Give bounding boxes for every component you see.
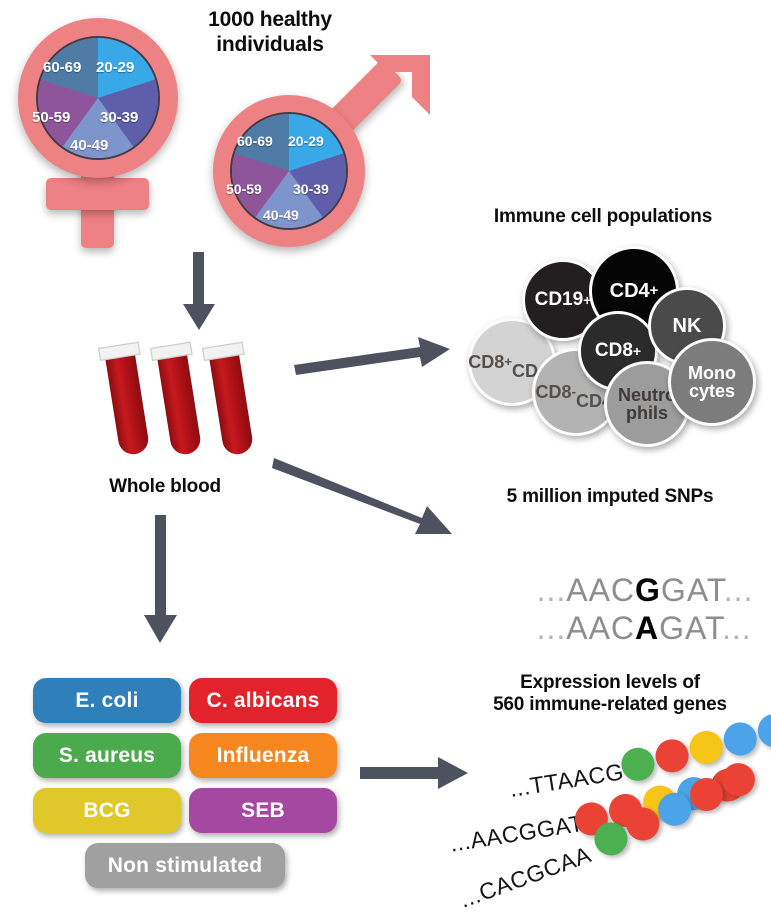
- immune-populations-title: Immune cell populations: [438, 206, 768, 228]
- arrow-stimuli-to-expression: [360, 755, 470, 791]
- stimulus-non-stimulated[interactable]: Non stimulated: [85, 843, 285, 888]
- snp-row2-prefix: ...: [537, 610, 567, 646]
- stimulus-e-coli[interactable]: E. coli: [33, 678, 181, 723]
- figure-canvas: 1000 healthy individuals 20-29 30-39 40-…: [0, 0, 771, 922]
- arrow-cohort-to-blood: [178, 252, 220, 332]
- male-symbol: 20-29 30-39 40-49 50-59 60-69: [205, 55, 420, 255]
- expression-strands: ...TTAACGG ...AACGGAT ...CACGCAA: [455, 740, 771, 920]
- expression-bead: [653, 737, 691, 775]
- expression-title: Expression levels of 560 immune-related …: [450, 672, 770, 717]
- stimuli-panel: E. coli C. albicans S. aureus Influenza …: [33, 678, 333, 893]
- female-symbol-crossbar: [46, 178, 149, 210]
- snp-row2-left: AAC: [566, 610, 635, 646]
- stimulus-seb[interactable]: SEB: [189, 788, 337, 833]
- pie-label-50-59: 50-59: [226, 181, 262, 197]
- snp-row2-right: GAT: [659, 610, 722, 646]
- pie-label-50-59: 50-59: [32, 109, 70, 126]
- snp-row2-suffix: ...: [722, 610, 752, 646]
- stimulus-c-albicans[interactable]: C. albicans: [189, 678, 337, 723]
- expression-bead: [721, 720, 759, 758]
- stimulus-s-aureus[interactable]: S. aureus: [33, 733, 181, 778]
- stimulus-influenza[interactable]: Influenza: [189, 733, 337, 778]
- pie-label-40-49: 40-49: [263, 207, 299, 223]
- whole-blood-tubes: [95, 340, 275, 465]
- immune-cell-cluster: CD8+CD4+ CD19+ CD4+ CD8-CD4- CD8+ NK Neu…: [460, 243, 770, 423]
- stimulus-bcg[interactable]: BCG: [33, 788, 181, 833]
- immune-cell-monocytes: Monocytes: [668, 338, 756, 426]
- female-symbol: 20-29 30-39 40-49 50-59 60-69: [8, 18, 188, 248]
- pie-label-30-39: 30-39: [100, 109, 138, 126]
- pie-label-20-29: 20-29: [288, 133, 324, 149]
- expression-bead: [755, 712, 771, 750]
- snp-row2-variant: A: [635, 610, 659, 646]
- snps-title: 5 million imputed SNPs: [450, 486, 770, 508]
- arrow-blood-to-stimuli: [140, 515, 182, 645]
- whole-blood-label: Whole blood: [60, 476, 270, 498]
- arrow-blood-to-snps: [272, 452, 457, 542]
- male-symbol-arrowhead: [340, 50, 435, 145]
- pie-label-60-69: 60-69: [237, 133, 273, 149]
- pie-label-40-49: 40-49: [70, 137, 108, 154]
- pie-label-20-29: 20-29: [96, 59, 134, 76]
- pie-label-60-69: 60-69: [43, 59, 81, 76]
- arrow-blood-to-immune: [292, 325, 452, 375]
- snp-sequence-row-2: ...AACAGAT...: [497, 573, 752, 684]
- expression-bead: [687, 729, 725, 767]
- pie-label-30-39: 30-39: [293, 181, 329, 197]
